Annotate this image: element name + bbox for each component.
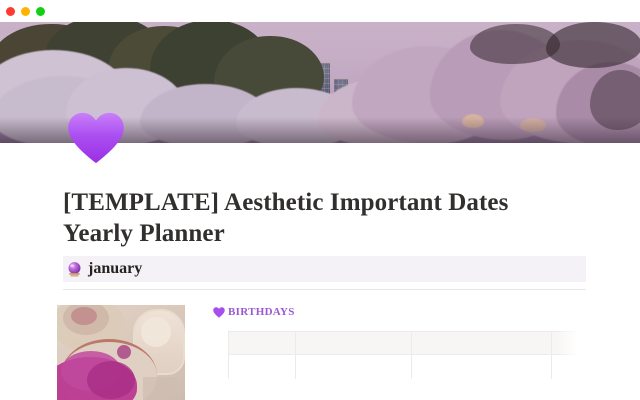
window-controls: [6, 7, 45, 16]
branch: [546, 22, 640, 68]
table-header-cell[interactable]: [296, 332, 412, 355]
photo-napkin: [143, 377, 177, 400]
crystal-ball-icon: [66, 261, 83, 278]
page-content: [TEMPLATE] Aesthetic Important Dates Yea…: [0, 143, 640, 400]
table-cell[interactable]: [552, 355, 581, 380]
section-image-january[interactable]: [57, 305, 185, 400]
birthdays-label: BIRTHDAYS: [228, 306, 295, 318]
purple-heart-icon: [213, 307, 225, 318]
table-header-row[interactable]: [229, 332, 581, 355]
table-row[interactable]: [229, 355, 581, 380]
table-header-cell[interactable]: [229, 332, 296, 355]
table-cell[interactable]: [296, 355, 412, 380]
table-header-cell[interactable]: [412, 332, 552, 355]
section-divider: [63, 289, 586, 290]
section-heading-january[interactable]: january: [63, 256, 586, 282]
maximize-window-button[interactable]: [36, 7, 45, 16]
photo-purple-flowers: [117, 345, 131, 359]
purple-heart-icon[interactable]: [67, 112, 125, 164]
table-cell[interactable]: [229, 355, 296, 380]
page-title: [TEMPLATE] Aesthetic Important Dates Yea…: [63, 187, 563, 249]
birthdays-heading: BIRTHDAYS: [213, 306, 295, 318]
table-cell[interactable]: [412, 355, 552, 380]
app-window: [TEMPLATE] Aesthetic Important Dates Yea…: [0, 0, 640, 400]
birthdays-table-wrapper[interactable]: [228, 331, 580, 379]
minimize-window-button[interactable]: [21, 7, 30, 16]
window-titlebar: [0, 0, 640, 22]
photo-dried-flower: [71, 307, 97, 325]
photo-purple-flowers: [87, 361, 135, 399]
birthdays-table[interactable]: [228, 331, 580, 379]
table-header-cell[interactable]: [552, 332, 581, 355]
photo-glass-highlight: [141, 317, 171, 347]
section-label: january: [88, 260, 142, 278]
close-window-button[interactable]: [6, 7, 15, 16]
